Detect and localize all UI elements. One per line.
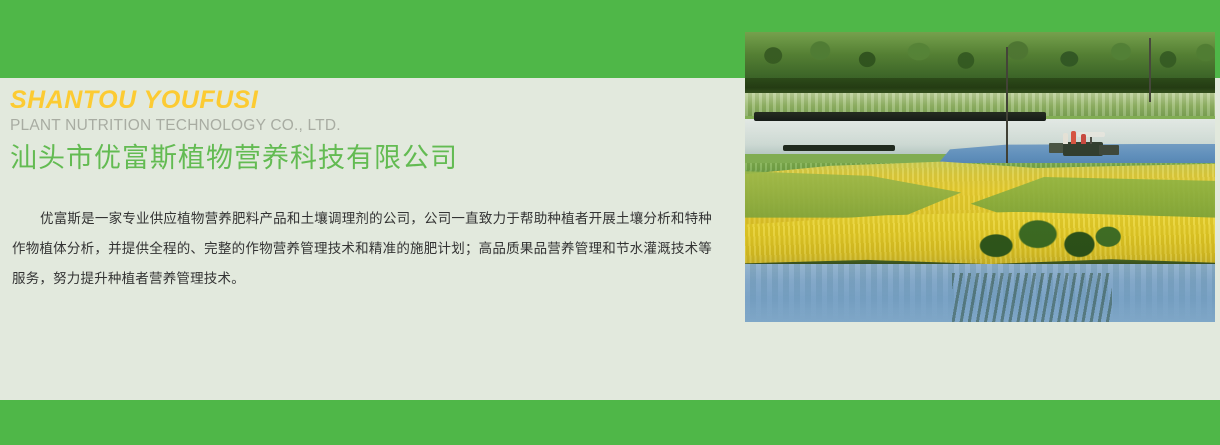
- utility-pole-icon: [1006, 47, 1008, 169]
- farm-worker-icon: [1071, 131, 1076, 144]
- farm-worker-icon: [1063, 133, 1068, 144]
- paddy-field-photo: [745, 32, 1215, 322]
- harvester-trailer: [1099, 145, 1119, 155]
- top-band-right-edge: [1215, 0, 1220, 78]
- harvester-body: [1063, 142, 1103, 156]
- bottom-green-band: [0, 400, 1220, 445]
- harvester-icon: [1041, 128, 1119, 164]
- treeline-band: [745, 32, 1215, 81]
- farm-worker-icon: [1081, 134, 1086, 144]
- water-reflection-dark: [952, 273, 1112, 322]
- text-column: [0, 78, 745, 400]
- harvester-canopy-post: [1090, 136, 1092, 144]
- company-profile-banner: SHANTOU YOUFUSI PLANT NUTRITION TECHNOLO…: [0, 0, 1220, 445]
- photo-scene: [745, 32, 1215, 322]
- utility-pole-far-icon: [1149, 38, 1151, 102]
- boat-silhouette: [754, 112, 1045, 121]
- bank-structure: [783, 145, 896, 151]
